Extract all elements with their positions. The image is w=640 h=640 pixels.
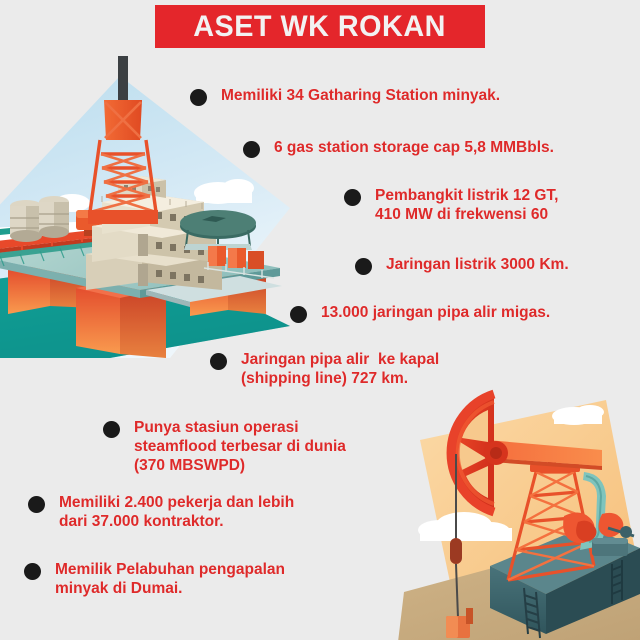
bullet-item-jaringan-pipa-migas: 13.000 jaringan pipa alir migas. [290,303,550,323]
bullet-dot-icon [355,258,372,275]
page-title-banner: ASET WK ROKAN [155,5,485,48]
bullet-text-pembangkit-listrik: Pembangkit listrik 12 GT, 410 MW di frek… [375,186,558,224]
bullet-item-gas-station-storage: 6 gas station storage cap 5,8 MMBbls. [243,138,554,158]
bullet-text-shipping-line: Jaringan pipa alir ke kapal (shipping li… [241,350,439,388]
bullet-text-jaringan-listrik: Jaringan listrik 3000 Km. [386,255,569,274]
infographic-canvas: ASET WK ROKAN Memiliki 34 Gatharing Stat… [0,0,640,640]
asset-bullet-list: Memiliki 34 Gatharing Station minyak.6 g… [0,0,640,640]
bullet-dot-icon [24,563,41,580]
bullet-dot-icon [344,189,361,206]
bullet-item-pelabuhan-dumai: Memilik Pelabuhan pengapalan minyak di D… [24,560,285,598]
bullet-text-gas-station-storage: 6 gas station storage cap 5,8 MMBbls. [274,138,554,157]
bullet-text-pekerja-kontraktor: Memiliki 2.400 pekerja dan lebih dari 37… [59,493,294,531]
bullet-dot-icon [190,89,207,106]
page-title: ASET WK ROKAN [194,10,447,44]
bullet-dot-icon [103,421,120,438]
bullet-text-gathering-station: Memiliki 34 Gatharing Station minyak. [221,86,500,105]
bullet-item-pembangkit-listrik: Pembangkit listrik 12 GT, 410 MW di frek… [344,186,558,224]
bullet-item-gathering-station: Memiliki 34 Gatharing Station minyak. [190,86,500,106]
bullet-item-steamflood-station: Punya stasiun operasi steamflood terbesa… [103,418,346,475]
bullet-item-pekerja-kontraktor: Memiliki 2.400 pekerja dan lebih dari 37… [28,493,294,531]
bullet-dot-icon [243,141,260,158]
bullet-text-pelabuhan-dumai: Memilik Pelabuhan pengapalan minyak di D… [55,560,285,598]
bullet-item-jaringan-listrik: Jaringan listrik 3000 Km. [355,255,569,275]
bullet-text-steamflood-station: Punya stasiun operasi steamflood terbesa… [134,418,346,475]
bullet-item-shipping-line: Jaringan pipa alir ke kapal (shipping li… [210,350,439,388]
bullet-dot-icon [28,496,45,513]
bullet-text-jaringan-pipa-migas: 13.000 jaringan pipa alir migas. [321,303,550,322]
bullet-dot-icon [290,306,307,323]
bullet-dot-icon [210,353,227,370]
